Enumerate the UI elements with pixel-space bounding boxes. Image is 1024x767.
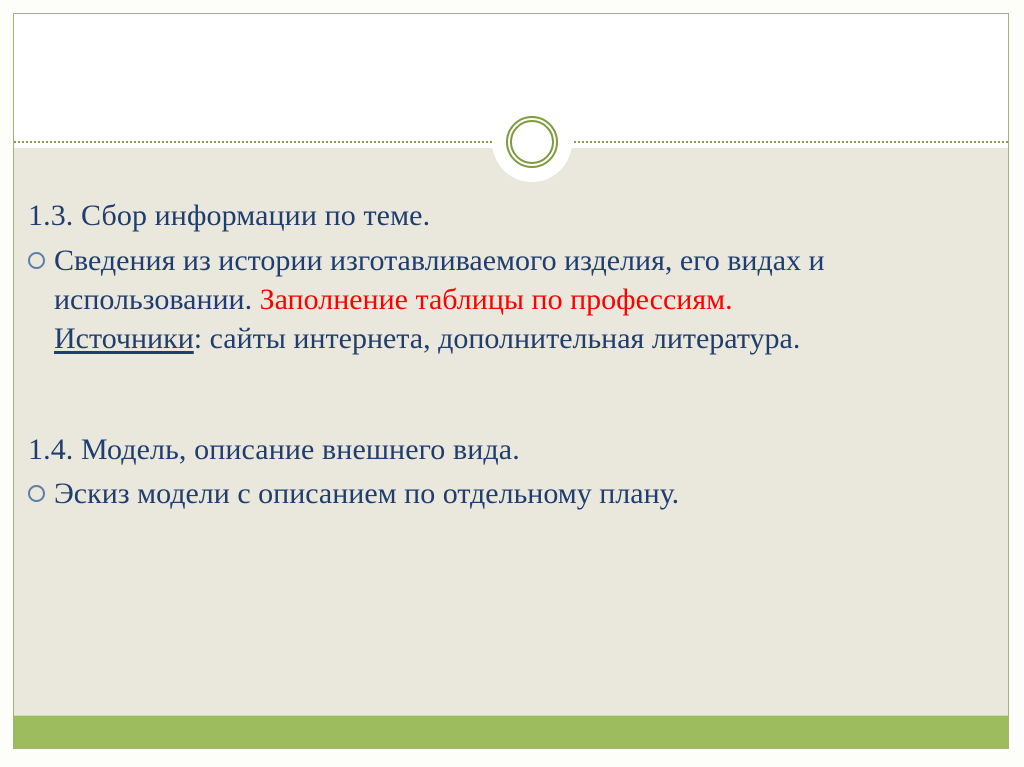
slide-canvas: 1.3. Сбор информации по теме. Сведения и…	[0, 0, 1024, 767]
section-one-bullet-sources-label: Источники	[54, 322, 194, 355]
section-one-bullet-plain-b: : сайты интернета, дополнительная литера…	[194, 322, 801, 355]
slide-content: 1.3. Сбор информации по теме. Сведения и…	[14, 148, 1009, 716]
slide-frame: 1.3. Сбор информации по теме. Сведения и…	[13, 13, 1009, 749]
section-one-bullet: Сведения из истории изготавливаемого изд…	[28, 241, 982, 358]
section-spacer	[28, 358, 982, 432]
section-two-heading: 1.4. Модель, описание внешнего вида.	[28, 432, 982, 469]
slide-footer-bar	[14, 715, 1008, 748]
section-two-bullet: Эскиз модели с описанием по отдельному п…	[28, 474, 982, 513]
bullet-circle-icon	[28, 485, 45, 502]
section-one-heading: 1.3. Сбор информации по теме.	[28, 198, 982, 235]
section-one-bullet-highlight: Заполнение таблицы по профессиям.	[260, 283, 733, 316]
section-one-bullet-text: Сведения из истории изготавливаемого изд…	[54, 241, 849, 358]
section-two-bullet-text: Эскиз модели с описанием по отдельному п…	[54, 474, 849, 513]
bullet-circle-icon	[28, 252, 45, 269]
